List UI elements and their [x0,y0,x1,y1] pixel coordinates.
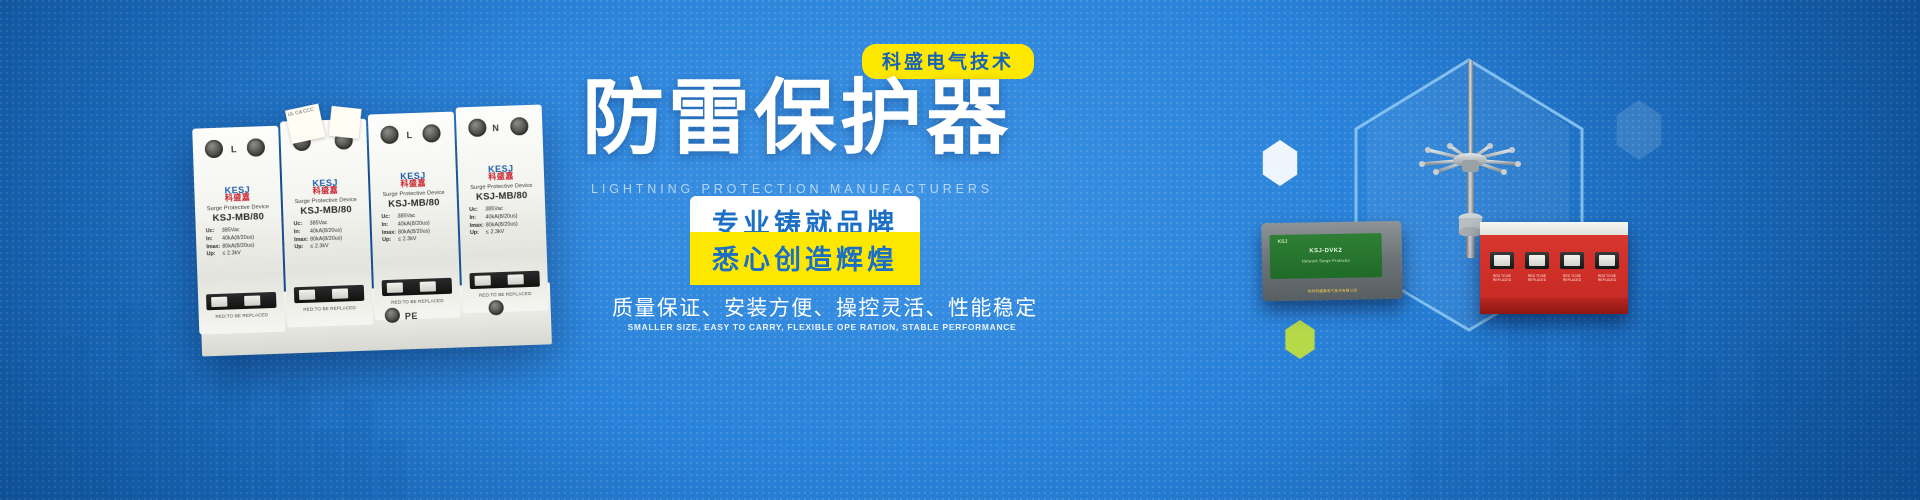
replace-note: RED:TO BE REPLACED [468,291,542,299]
status-window [332,288,348,299]
status-window [1525,252,1549,269]
terminal-screw [247,138,266,157]
spec-key: Up: [470,230,486,238]
promo-banner: L KESJ 科盛嘉 Surge Protective Device KSJ-M… [0,0,1920,500]
features-english: SMALLER SIZE, EASY TO CARRY, FLEXIBLE OP… [612,322,1032,332]
status-window [1560,252,1584,269]
features-chinese: 质量保证、安装方便、操控灵活、性能稳定 [612,292,1032,322]
red-surge-protector-device: RED TO BE REPLACED RED TO BE REPLACED RE… [1480,222,1628,314]
model-number: KSJ-MB/80 [465,191,539,204]
status-window [244,295,260,306]
terminal-screw [205,140,224,159]
replace-note: RED:TO BE REPLACED [293,305,367,313]
company-footer-text: 杭州科盛嘉电气技术有限公司 [1262,288,1402,295]
spd-module: KESJ 科盛嘉 Surge Protective Device KSJ-MB/… [280,119,373,328]
spec-value: 80kA(8/20us) [310,235,342,242]
terminal-screw [380,126,399,145]
surge-protector-product-left: L KESJ 科盛嘉 Surge Protective Device KSJ-M… [192,101,581,366]
brand-name-cn: 科盛嘉 [201,193,275,205]
terminal-screw [468,118,487,137]
terminal-screw [510,117,529,136]
device-type-text: Surge Protective Device [289,197,363,206]
slogan-line-two: 悉心创造辉煌 [690,232,920,285]
replace-note: RED:TO BE REPLACED [205,312,279,320]
status-window [420,281,436,292]
spec-table: Uc:385Vac In:40kA(8/20us) Imax:80kA(8/20… [202,226,277,260]
hexagon-decoration-green [1283,320,1317,359]
spec-value: 40kA(8/20us) [310,227,342,234]
status-window [475,275,491,286]
spec-value: ≤ 2.3kV [398,236,416,243]
status-window-strip [294,285,365,303]
spd-module: L KESJ 科盛嘉 Surge Protective Device KSJ-M… [192,126,285,335]
page-title: 防雷保护器 [582,78,1000,160]
subtitle-english: LIGHTNING PROTECTION MANUFACTURERS [582,182,1002,196]
status-window [1490,252,1514,269]
spec-key: Up: [207,251,223,259]
replace-note: RED TO BE REPLACED [1594,274,1620,283]
status-window-strip [382,278,453,296]
status-window [211,297,227,308]
replace-note: RED TO BE REPLACED [1559,274,1585,283]
status-window [299,290,315,301]
status-window [1595,252,1619,269]
brand-name-cn: 科盛嘉 [288,186,362,198]
device-bottom-cap [1480,298,1628,314]
spec-value: ≤ 2.3kV [310,243,328,250]
pcb-model: KSJ-DVK2 [1270,247,1382,255]
spec-value: 385Vac [485,206,503,213]
spec-value: ≤ 2.3kV [486,229,504,236]
spec-value: 80kA(8/20us) [486,221,518,228]
model-number: KSJ-MB/80 [289,205,363,218]
brand-name-cn: 科盛嘉 [464,172,538,184]
device-top-cap [1480,222,1628,235]
spec-table: Uc:385Vac In:40kA(8/20us) Imax:80kA(8/20… [289,219,364,253]
spec-key: Up: [294,244,310,252]
spec-value: 80kA(8/20us) [398,228,430,235]
certification-sticker: UL CA CCC [285,104,325,144]
spec-label: KESJ 科盛嘉 Surge Protective Device KSJ-MB/… [464,163,542,270]
earth-label: PE [405,311,418,321]
certification-sticker [329,106,362,139]
spec-value: 385Vac [397,213,415,220]
model-number: KSJ-MB/80 [377,198,451,211]
status-window [507,274,523,285]
status-window-strip [206,292,277,310]
spec-table: Uc:385Vac In:40kA(8/20us) Imax:80kA(8/20… [465,205,540,239]
network-surge-protector-device: KSJ KSJ-DVK2 Network Surge Protector 杭州科… [1261,221,1402,301]
spec-table: Uc:385Vac In:40kA(8/20us) Imax:80kA(8/20… [377,212,452,246]
status-window-strip [469,271,540,289]
hexagon-decoration-small [1613,100,1665,160]
spd-module: N KESJ 科盛嘉 Surge Protective Device KSJ-M… [456,104,549,313]
pin-label: L [406,130,412,140]
spec-value: 40kA(8/20us) [398,220,430,227]
spd-module: L KESJ 科盛嘉 Surge Protective Device KSJ-M… [368,112,461,321]
spec-value: ≤ 2.3kV [222,250,240,257]
spec-value: 40kA(8/20us) [222,234,254,241]
pcb-subtitle: Network Surge Protector [1270,257,1382,264]
pin-label: N [492,123,499,133]
spec-key: Up: [382,237,398,245]
spec-label: KESJ 科盛嘉 Surge Protective Device KSJ-MB/… [376,170,454,277]
terminal-screw [422,124,441,143]
spec-value: 385Vac [309,220,327,227]
replace-note: RED TO BE REPLACED [1524,274,1550,283]
device-type-text: Surge Protective Device [201,204,275,213]
spec-value: 40kA(8/20us) [485,213,517,220]
hexagon-decoration-white [1260,140,1300,186]
spec-label: KESJ 科盛嘉 Surge Protective Device KSJ-MB/… [288,177,366,284]
replace-note: RED:TO BE REPLACED [380,298,454,306]
replace-note: RED TO BE REPLACED [1489,274,1515,283]
spec-label: KESJ 科盛嘉 Surge Protective Device KSJ-MB/… [200,184,278,291]
pin-label: L [231,144,237,154]
status-window [387,282,403,293]
brand-name-cn: 科盛嘉 [376,179,450,191]
spec-value: 80kA(8/20us) [222,242,254,249]
pcb-board: KSJ KSJ-DVK2 Network Surge Protector [1270,233,1383,279]
pcb-brand-logo: KSJ [1278,239,1288,245]
device-type-text: Surge Protective Device [464,183,538,192]
spec-value: 385Vac [222,227,240,234]
device-type-text: Surge Protective Device [377,190,451,199]
model-number: KSJ-MB/80 [201,212,275,225]
